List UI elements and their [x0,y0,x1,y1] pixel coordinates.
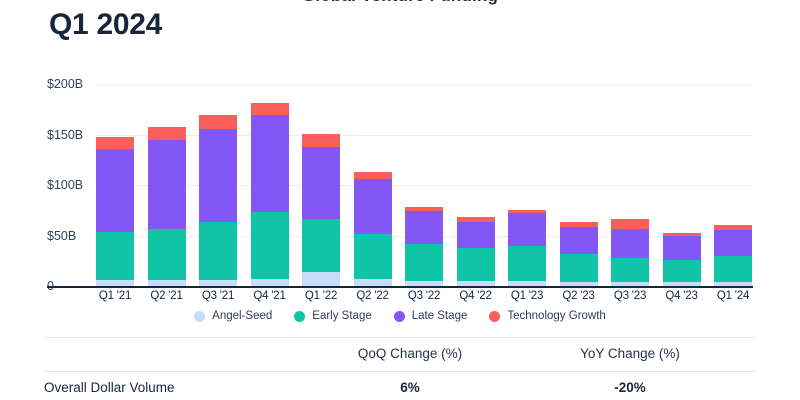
bar-segment-technology-growth[interactable] [96,137,134,149]
bar-segment-late-stage[interactable] [96,149,134,233]
bar-column[interactable] [714,84,752,286]
bar-segment-late-stage[interactable] [560,227,598,253]
x-axis-tick: Q1 '24 [714,290,752,302]
bar-segment-early-stage[interactable] [302,219,340,272]
bar-segment-late-stage[interactable] [714,230,752,255]
bar-segment-angel-seed[interactable] [405,281,443,286]
bar-segment-technology-growth[interactable] [354,172,392,179]
bar-segment-technology-growth[interactable] [611,219,649,229]
y-axis-tick: $150B [47,128,83,142]
bar-segment-late-stage[interactable] [663,236,701,260]
row-label-overall-dollar-volume: Overall Dollar Volume [0,380,300,395]
bar-segment-angel-seed[interactable] [560,282,598,286]
x-axis-tick-labels: Q1 '21Q2 '21Q3 '21Q4 '21Q1 '22Q2 '22Q3 '… [96,290,752,302]
x-axis-tick: Q1 '21 [96,290,134,302]
bar-segment-late-stage[interactable] [611,229,649,257]
dashboard-page: Global Venture Funding Q1 2024 $200B$150… [0,0,800,400]
clipped-header-title: Global Venture Funding [0,0,800,6]
x-axis-tick: Q3 '21 [199,290,237,302]
bar-column[interactable] [611,84,649,286]
bar-segment-technology-growth[interactable] [302,134,340,147]
bar-segment-early-stage[interactable] [663,260,701,282]
legend-label: Technology Growth [507,310,605,322]
x-axis-tick: Q4 '23 [663,290,701,302]
stacked-bar-series [96,84,752,286]
legend-item[interactable]: Early Stage [294,310,371,322]
bar-segment-angel-seed[interactable] [302,272,340,286]
bar-segment-late-stage[interactable] [508,213,546,245]
table-row: Overall Dollar Volume 6% -20% [0,370,800,400]
bar-column[interactable] [148,84,186,286]
bar-column[interactable] [457,84,495,286]
table-header-row: QoQ Change (%) YoY Change (%) [0,336,800,370]
x-axis-tick: Q2 '21 [148,290,186,302]
legend-item[interactable]: Technology Growth [489,310,605,322]
bar-segment-technology-growth[interactable] [199,115,237,129]
bar-column[interactable] [508,84,546,286]
bar-segment-early-stage[interactable] [457,248,495,281]
y-axis-tick: $100B [47,178,83,192]
bar-column[interactable] [199,84,237,286]
bar-segment-late-stage[interactable] [354,179,392,234]
bar-segment-angel-seed[interactable] [199,280,237,286]
bar-segment-early-stage[interactable] [148,229,186,280]
x-axis-tick: Q2 '23 [560,290,598,302]
summary-table: QoQ Change (%) YoY Change (%) Overall Do… [0,336,800,400]
bar-segment-angel-seed[interactable] [611,282,649,286]
legend-swatch-icon [394,311,405,322]
chart-legend: Angel-SeedEarly StageLate StageTechnolog… [0,310,800,322]
bar-segment-early-stage[interactable] [714,256,752,282]
x-axis-tick: Q1 '23 [508,290,546,302]
x-axis-tick: Q3 '22 [405,290,443,302]
bar-segment-early-stage[interactable] [405,244,443,281]
bar-segment-late-stage[interactable] [251,115,289,212]
table-header-yoy: YoY Change (%) [520,346,740,361]
x-axis-tick: Q4 '22 [457,290,495,302]
bar-segment-early-stage[interactable] [251,212,289,279]
legend-label: Angel-Seed [212,310,272,322]
legend-swatch-icon [489,311,500,322]
bar-segment-early-stage[interactable] [560,254,598,282]
x-axis-tick: Q2 '22 [354,290,392,302]
legend-swatch-icon [294,311,305,322]
bar-segment-angel-seed[interactable] [148,280,186,286]
bar-segment-early-stage[interactable] [508,246,546,281]
bar-segment-early-stage[interactable] [96,232,134,279]
bar-segment-angel-seed[interactable] [663,282,701,286]
bar-segment-technology-growth[interactable] [251,103,289,115]
bar-segment-angel-seed[interactable] [354,279,392,286]
bar-segment-angel-seed[interactable] [457,281,495,286]
bar-segment-late-stage[interactable] [302,147,340,220]
y-axis-tick: $200B [47,77,83,91]
x-axis-tick: Q1 '22 [302,290,340,302]
table-header-qoq: QoQ Change (%) [300,346,520,361]
bar-column[interactable] [405,84,443,286]
bar-segment-technology-growth[interactable] [148,127,186,139]
bar-segment-late-stage[interactable] [148,140,186,230]
x-axis-tick: Q3 '23 [611,290,649,302]
bar-column[interactable] [663,84,701,286]
legend-item[interactable]: Late Stage [394,310,468,322]
bar-segment-early-stage[interactable] [199,222,237,280]
y-axis-tick: $50B [47,229,76,243]
bar-segment-late-stage[interactable] [405,211,443,243]
bar-column[interactable] [251,84,289,286]
legend-label: Early Stage [312,310,371,322]
page-title: Q1 2024 [49,8,162,42]
bar-segment-angel-seed[interactable] [714,282,752,286]
x-axis-tick: Q4 '21 [251,290,289,302]
bar-segment-angel-seed[interactable] [251,279,289,286]
legend-swatch-icon [194,311,205,322]
bar-segment-late-stage[interactable] [199,129,237,222]
venture-funding-chart: $200B$150B$100B$50B0 Q1 '21Q2 '21Q3 '21Q… [0,62,800,292]
bar-segment-angel-seed[interactable] [96,280,134,286]
bar-column[interactable] [96,84,134,286]
bar-column[interactable] [302,84,340,286]
row-value-qoq: 6% [300,380,520,395]
bar-segment-early-stage[interactable] [611,258,649,282]
x-axis-baseline [47,286,753,288]
bar-segment-angel-seed[interactable] [508,281,546,286]
legend-item[interactable]: Angel-Seed [194,310,272,322]
legend-label: Late Stage [412,310,468,322]
bar-segment-early-stage[interactable] [354,234,392,279]
bar-segment-late-stage[interactable] [457,222,495,247]
row-value-yoy: -20% [520,380,740,395]
bar-column[interactable] [560,84,598,286]
bar-column[interactable] [354,84,392,286]
